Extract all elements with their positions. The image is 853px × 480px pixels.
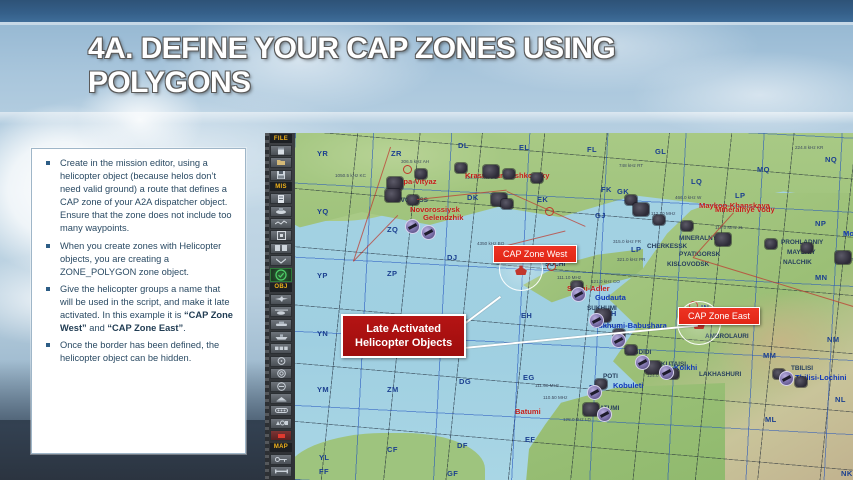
navaid-frequency-label: 111.50 MHz — [535, 383, 559, 388]
waypoint-marker[interactable] — [403, 165, 412, 174]
save-disk-icon[interactable] — [270, 170, 292, 181]
navaid-frequency-label: 110.50 MHz — [543, 395, 567, 400]
editor-toolbar-panel: FILEMISOBJMAP — [265, 133, 295, 480]
waypoint-marker[interactable] — [547, 262, 556, 271]
map-grid-label: MM — [763, 351, 776, 360]
ruler-icon[interactable] — [270, 466, 292, 477]
plane-icon[interactable] — [270, 294, 292, 305]
cargo-icon[interactable] — [270, 393, 292, 404]
map-grid-label: YP — [317, 271, 328, 280]
navaid-frequency-label: 224.8 kHz KR — [795, 145, 823, 150]
airbase-label: Kobuleti — [613, 381, 643, 390]
navaid-frequency-label: 466.0 kHz W — [675, 195, 701, 200]
map-grid-label: YQ — [317, 207, 329, 216]
target-icon[interactable] — [270, 230, 292, 241]
unit-marker[interactable] — [503, 169, 515, 179]
map-grid-label: NQ — [825, 155, 837, 164]
city-label: PYATIGORSK — [679, 251, 720, 258]
map-grid-label: YR — [317, 149, 328, 158]
city-label: KISLOVODSK — [667, 261, 709, 268]
map-grid-label: YN — [317, 329, 328, 338]
new-file-icon[interactable] — [270, 145, 292, 156]
city-label: LAKHASHURI — [699, 371, 741, 378]
mission-editor-screenshot: FILEMISOBJMAP YRZRDLELFLGLNQMQYQZQDKEKGK… — [265, 133, 853, 480]
map-grid-label: MQ — [757, 165, 770, 174]
navaid-frequency-label: 306.5 kHz AH — [401, 159, 429, 164]
aircraft-marker[interactable] — [597, 407, 612, 422]
aircraft-marker[interactable] — [779, 371, 794, 386]
map-grid-label: LQ — [691, 177, 702, 186]
unit-marker[interactable] — [795, 377, 807, 387]
map-grid-label: DL — [458, 141, 469, 150]
slide-root: 4A. Define your CAP zones using polygons… — [0, 0, 853, 480]
airbase-label: Mozdok — [843, 229, 853, 238]
unit-marker[interactable] — [407, 195, 419, 205]
briefing-icon[interactable] — [270, 193, 292, 204]
unit-marker[interactable] — [501, 199, 513, 209]
unit-marker[interactable] — [531, 173, 543, 183]
map-grid-label: DG — [459, 377, 471, 386]
navaid-frequency-label: 315.0 kHz FR — [613, 239, 641, 244]
list-item: Once the border has been defined, the he… — [40, 339, 235, 365]
options-icon[interactable] — [270, 418, 292, 429]
haze-strip — [0, 112, 853, 124]
map-grid-label: DJ — [447, 253, 457, 262]
map-grid-label: ZQ — [387, 225, 398, 234]
unit-marker[interactable] — [483, 165, 499, 178]
map-grid-label: MN — [815, 273, 827, 282]
navaid-frequency-label: 748 kHz RT — [619, 163, 643, 168]
airbase-label: Mineralnye Vody — [715, 205, 775, 214]
trigger-zone-icon[interactable] — [270, 368, 292, 379]
map-grid-label: FL — [587, 145, 597, 154]
map-grid-label: EK — [537, 195, 548, 204]
toolbar-group-header-mission: MIS — [270, 182, 292, 191]
unit-marker[interactable] — [835, 251, 851, 264]
map-grid-label: EH — [521, 311, 532, 320]
ground-unit-icon[interactable] — [270, 319, 292, 330]
unit-marker[interactable] — [415, 169, 427, 179]
map-grid-label: NK — [841, 469, 853, 478]
toolbar-group-header-map: MAP — [270, 443, 292, 452]
map-grid-label: DF — [457, 441, 468, 450]
map-grid-label: YM — [317, 385, 329, 394]
waypoint-icon[interactable] — [270, 255, 292, 266]
map-grid-label: LP — [631, 245, 641, 254]
panel-icon[interactable] — [270, 243, 292, 254]
map-grid-label: NP — [815, 219, 826, 228]
map-grid-label: GL — [655, 147, 666, 156]
aircraft-marker[interactable] — [659, 365, 674, 380]
toolbar-scroll-track[interactable] — [265, 133, 269, 480]
unit-marker[interactable] — [681, 221, 693, 231]
airbase-label: Gelendzhik — [423, 213, 464, 222]
map-grid-label: EG — [523, 373, 535, 382]
top-band-edge — [0, 22, 853, 25]
map-grid-label: GJ — [595, 211, 606, 220]
navaid-frequency-label: 111.10 MHz — [557, 275, 581, 280]
toolbar-group-header-file: FILE — [270, 134, 292, 143]
cap-zone-east-callout[interactable]: CAP Zone East — [678, 307, 760, 325]
city-label: CHERKESSK — [647, 243, 687, 250]
map-grid-label: ML — [765, 415, 777, 424]
map-grid-label: ZR — [391, 149, 402, 158]
unit-marker[interactable] — [633, 203, 649, 216]
open-folder-icon[interactable] — [270, 157, 292, 168]
map-grid-label: YL — [319, 453, 329, 462]
map-canvas[interactable]: YRZRDLELFLGLNQMQYQZQDKEKGKLQFKLPNPYPZPDJ… — [295, 133, 853, 480]
navaid-frequency-label: 128.0 kHz LD — [563, 417, 591, 422]
key-icon[interactable] — [270, 454, 292, 465]
list-item: Give the helicopter groups a name that w… — [40, 283, 235, 335]
aircraft-marker[interactable] — [611, 333, 626, 348]
map-grid-label: LP — [735, 191, 745, 200]
aircraft-marker[interactable] — [589, 313, 604, 328]
map-grid-label: ZM — [387, 385, 399, 394]
map-grid-label: CF — [387, 445, 398, 454]
failure-icon[interactable] — [270, 381, 292, 392]
aircraft-marker[interactable] — [571, 287, 586, 302]
city-label: NALCHIK — [783, 259, 812, 266]
map-grid-label: FF — [319, 467, 329, 476]
map-grid-label: FK — [601, 185, 612, 194]
instructions-panel: Create in the mission editor, using a he… — [31, 148, 246, 454]
instructions-list: Create in the mission editor, using a he… — [40, 157, 235, 365]
map-grid-label: ZP — [387, 269, 397, 278]
map-grid-label: GF — [447, 469, 458, 478]
toolbar-group-header-objects: OBJ — [270, 283, 292, 292]
list-item: When you create zones with Helicopter ob… — [40, 240, 235, 279]
unit-marker[interactable] — [625, 345, 637, 355]
unit-marker[interactable] — [385, 189, 401, 202]
unit-marker[interactable] — [801, 243, 813, 253]
route-icon[interactable] — [270, 218, 292, 229]
validate-check-icon[interactable] — [270, 268, 292, 282]
aircraft-marker[interactable] — [587, 385, 602, 400]
map-grid-label: EF — [525, 435, 535, 444]
warehouse-icon[interactable] — [270, 405, 292, 416]
list-item: Create in the mission editor, using a he… — [40, 157, 235, 236]
editor-toolbar[interactable]: FILEMISOBJMAP — [270, 133, 292, 478]
static-icon[interactable] — [270, 356, 292, 367]
top-color-band — [0, 0, 853, 22]
map-grid-label: NM — [827, 335, 839, 344]
coalition-icon[interactable] — [270, 206, 292, 217]
waypoint-marker[interactable] — [545, 207, 554, 216]
ship-icon[interactable] — [270, 331, 292, 342]
helicopter-icon[interactable] — [270, 306, 292, 317]
airbase-label: Gudauta — [595, 293, 626, 302]
unit-marker[interactable] — [765, 239, 777, 249]
train-icon[interactable] — [270, 343, 292, 354]
unit-marker[interactable] — [653, 215, 665, 225]
map-grid-label: EL — [519, 143, 529, 152]
stop-record-icon[interactable] — [270, 430, 292, 441]
unit-marker[interactable] — [715, 233, 731, 246]
cap-zone-west-callout[interactable]: CAP Zone West — [493, 245, 577, 263]
aircraft-marker[interactable] — [405, 219, 420, 234]
late-activated-callout[interactable]: Late Activated Helicopter Objects — [341, 314, 466, 358]
navaid-frequency-label: 1050.5 kHz KC — [335, 173, 366, 178]
navaid-frequency-label: 321.0 kHz PR — [617, 257, 645, 262]
map-grid-label: NL — [835, 395, 846, 404]
unit-marker[interactable] — [455, 163, 467, 173]
page-title: 4A. Define your CAP zones using polygons — [88, 32, 728, 99]
airbase-label: Batumi — [515, 407, 541, 416]
aircraft-marker[interactable] — [421, 225, 436, 240]
aircraft-marker[interactable] — [635, 355, 650, 370]
city-label: TBILISI — [791, 365, 813, 372]
